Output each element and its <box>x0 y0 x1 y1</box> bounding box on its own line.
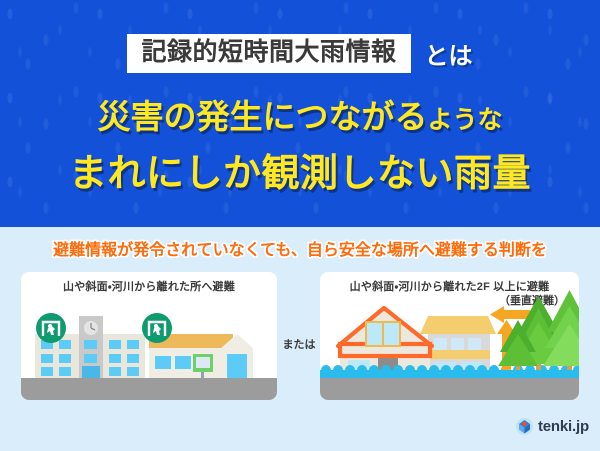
hero-headline-line2: まれにしか観測しない雨量 <box>0 155 600 193</box>
or-connector-label: または <box>278 336 320 352</box>
hero-headline-line1-small: ような <box>427 106 502 134</box>
headline-term-suffix: とは <box>425 36 473 71</box>
hero-headline-line1: 災害の発生につながるような <box>0 100 600 133</box>
arrow-left-icon <box>490 306 530 323</box>
hero-section: 記録的短時間大雨情報 とは 災害の発生につながるような まれにしか観測しない雨量 <box>0 0 600 227</box>
tenki-logo-text: tenki.jp <box>538 418 589 435</box>
infographic-root: 記録的短時間大雨情報 とは 災害の発生につながるような まれにしか観測しない雨量… <box>0 0 600 451</box>
tenki-logo-icon <box>516 418 533 435</box>
left-card-illustration <box>21 272 277 400</box>
headline-term-box: 記録的短時間大雨情報 <box>127 34 410 73</box>
card-horizontal-evacuation: 山や斜面・河川から離れた所へ避難 <box>21 272 277 400</box>
hero-headline-line1-main: 災害の発生につながる <box>97 98 427 135</box>
right-card-illustration <box>320 272 579 400</box>
tenki-logo[interactable]: tenki.jp <box>516 418 589 435</box>
hero-title-row: 記録的短時間大雨情報 とは <box>0 34 600 73</box>
tree-icon <box>543 290 579 370</box>
card-vertical-evacuation: 山や斜面・河川から離れた2F 以上に避難 （垂直避難） <box>320 272 579 400</box>
evacuation-advice-banner: 避難情報が発令されていなくても、自ら安全な場所へ避難する判断を <box>0 236 600 260</box>
